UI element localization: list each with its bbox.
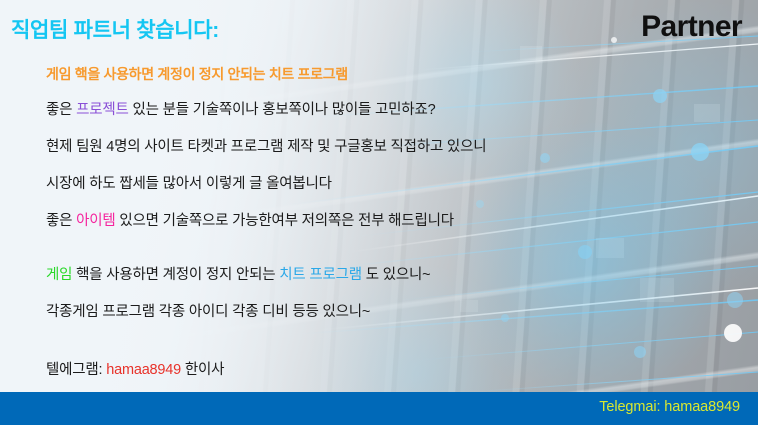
line-project-segment-1: 프로젝트 [76, 102, 129, 118]
line-game-hack: 게임 핵을 사용하면 계정이 정지 안되는 치트 프로그램 도 있으니~ [46, 263, 430, 284]
line-team: 현제 팀원 4명의 사이트 타켓과 프로그램 제작 및 구글홍보 직접하고 있으… [46, 135, 486, 156]
line-game-hack-segment-2: 치트 프로그램 [279, 267, 362, 283]
line-contact-segment-1: hamaa8949 [106, 362, 181, 378]
brand-logo: Partner [641, 10, 742, 44]
line-contact-segment-0: 텔에그램: [46, 362, 106, 378]
line-market: 시장에 하도 짭세들 많아서 이렇게 글 올여봅니다 [46, 172, 332, 193]
line-item-segment-0: 좋은 [46, 213, 76, 229]
line-team-segment-0: 현제 팀원 4명의 사이트 타켓과 프로그램 제작 및 구글홍보 직접하고 있으… [46, 139, 486, 155]
line-game-hack-segment-3: 도 있으니~ [362, 267, 431, 283]
line-item-segment-2: 있으면 기술쪽으로 가능한여부 저의쪽은 전부 해드립니다 [116, 213, 454, 229]
page-title: 직업팀 파트너 찾습니다: [11, 14, 219, 44]
line-market-segment-0: 시장에 하도 짭세들 많아서 이렇게 글 올여봅니다 [46, 176, 332, 192]
promo-slide: 직업팀 파트너 찾습니다: Partner 게임 핵을 사용하면 계정이 정지 … [0, 0, 758, 425]
headline-text: 게임 핵을 사용하면 계정이 정지 안되는 치트 프로그램 [46, 64, 348, 84]
line-game-hack-segment-1: 핵을 사용하면 계정이 정지 안되는 [72, 267, 279, 283]
line-project-segment-0: 좋은 [46, 102, 76, 118]
line-project-segment-2: 있는 분들 기술쪽이나 홍보쪽이나 많이들 고민하죠? [129, 102, 436, 118]
line-project: 좋은 프로젝트 있는 분들 기술쪽이나 홍보쪽이나 많이들 고민하죠? [46, 98, 435, 119]
line-game-hack-segment-0: 게임 [46, 267, 72, 283]
footer-contact-text: Telegmai: hamaa8949 [599, 399, 740, 415]
line-contact-segment-2: 한이사 [181, 362, 224, 378]
line-item: 좋은 아이템 있으면 기술쪽으로 가능한여부 저의쪽은 전부 해드립니다 [46, 209, 454, 230]
line-contact: 텔에그램: hamaa8949 한이사 [46, 358, 224, 379]
footer-bar: Telegmai: hamaa8949 [0, 392, 758, 425]
line-misc: 각종게임 프로그램 각종 아이디 각종 디비 등등 있으니~ [46, 300, 370, 321]
line-item-segment-1: 아이템 [76, 213, 115, 229]
line-misc-segment-0: 각종게임 프로그램 각종 아이디 각종 디비 등등 있으니~ [46, 304, 370, 320]
